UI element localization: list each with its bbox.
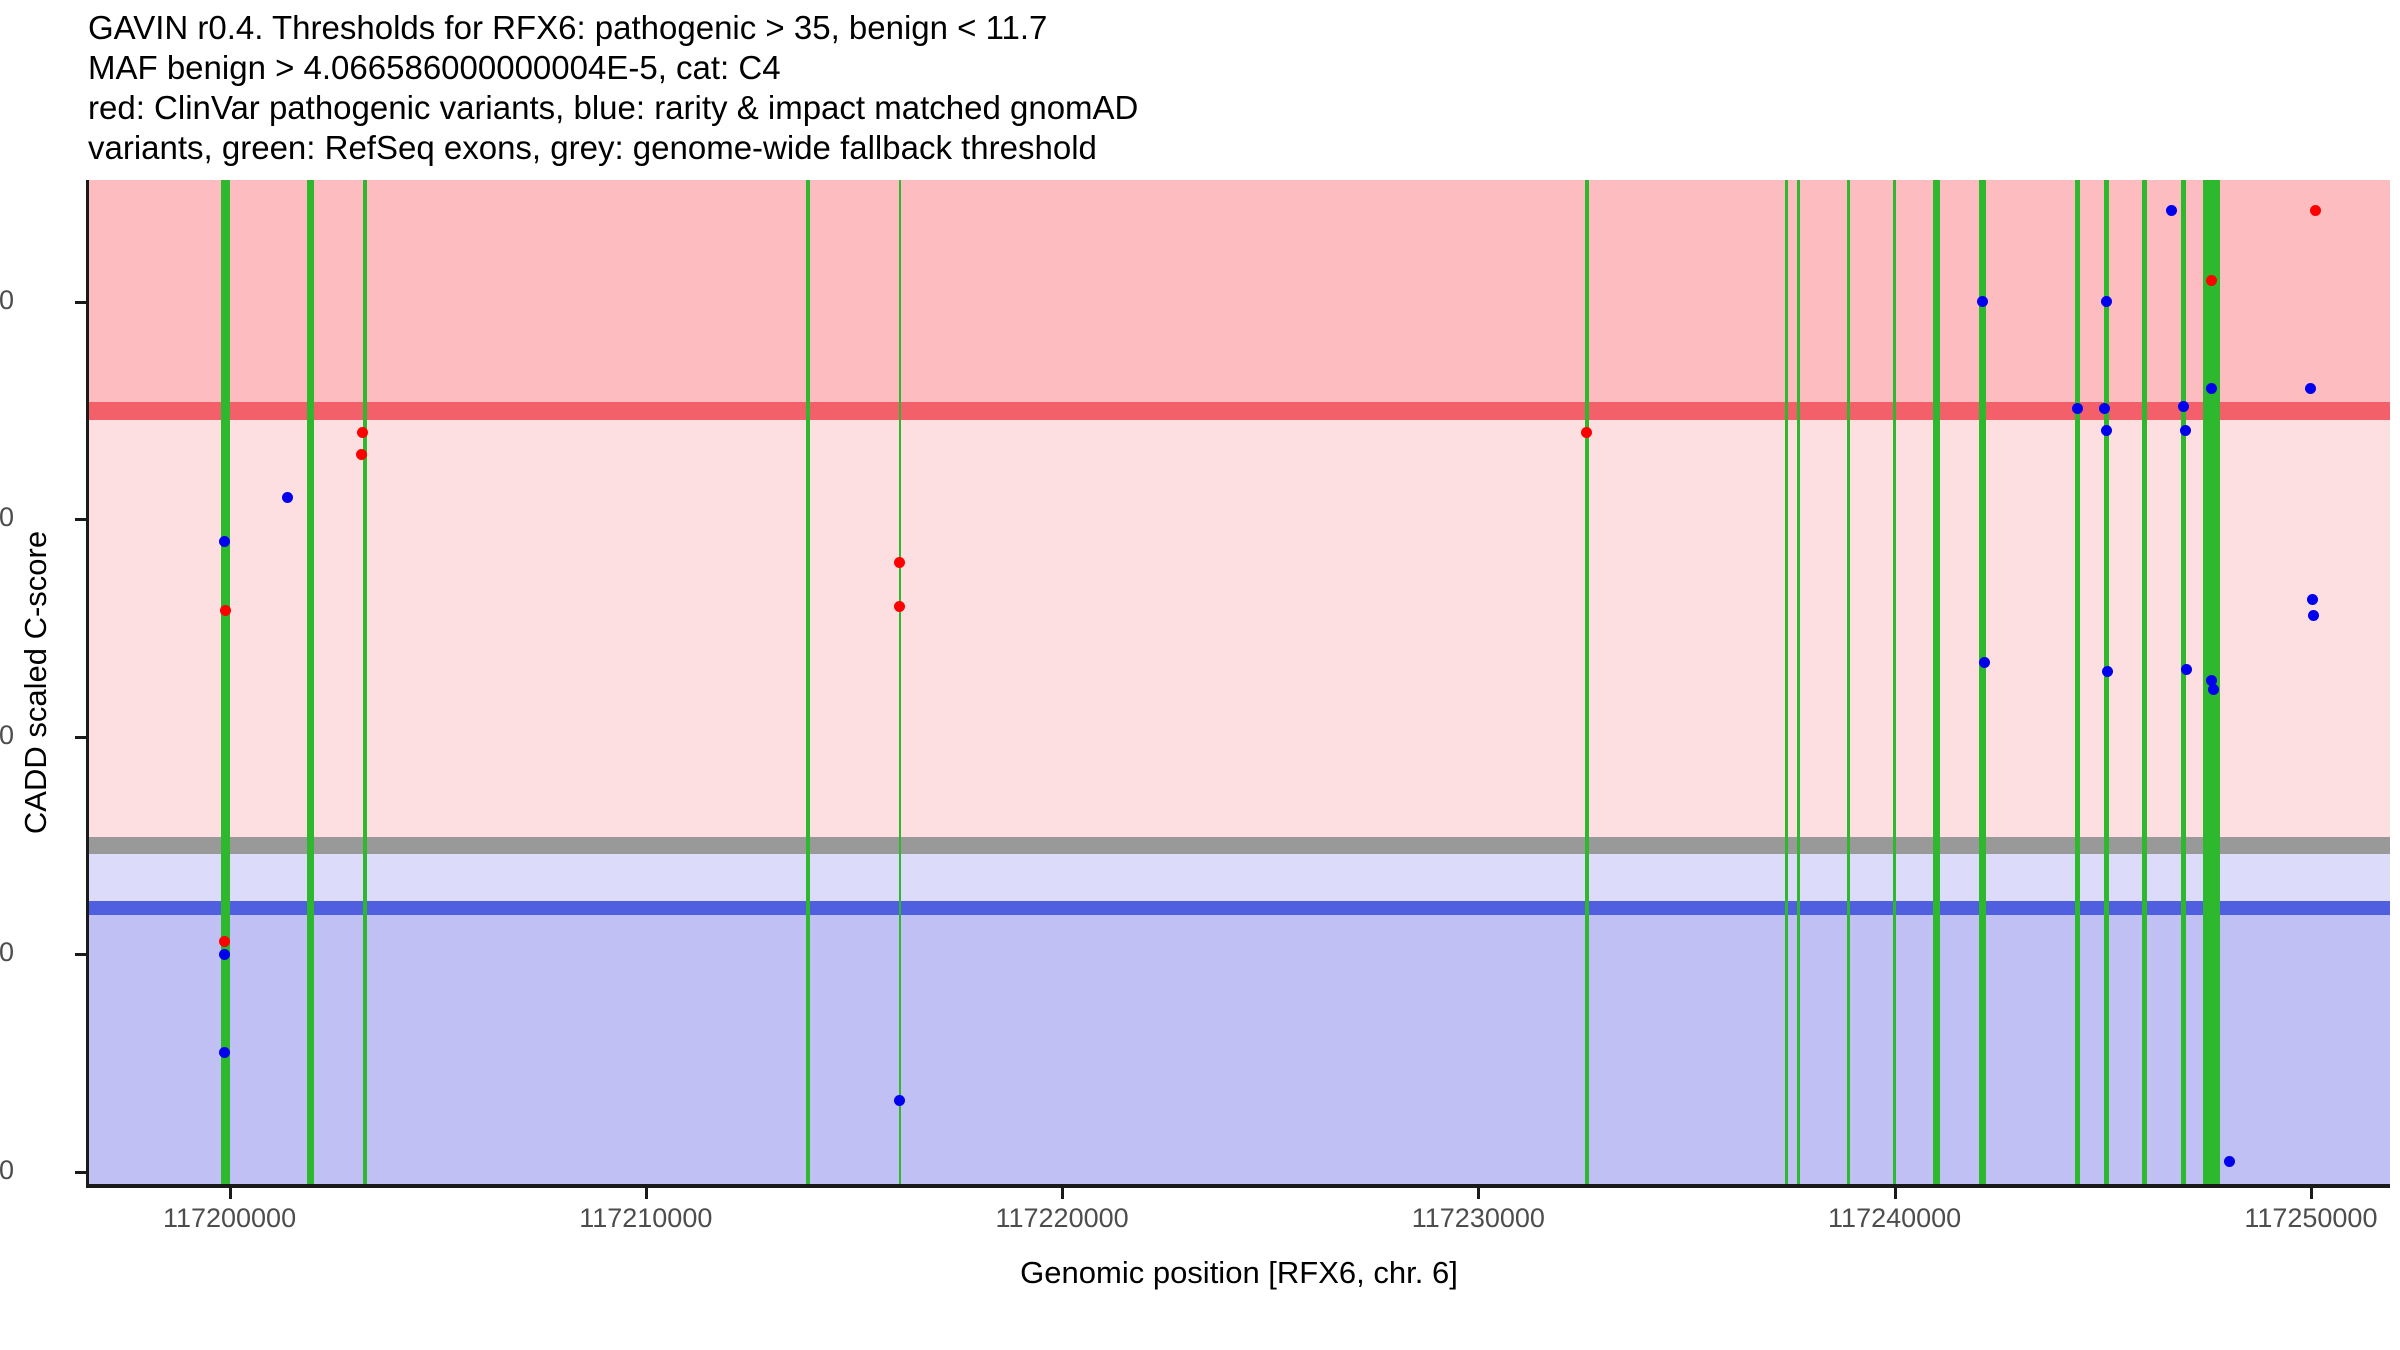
plot-title: GAVIN r0.4. Thresholds for RFX6: pathoge… bbox=[88, 8, 2388, 168]
fallback-threshold-line bbox=[88, 837, 2390, 854]
y-axis-tick-mark bbox=[75, 301, 86, 304]
refseq-exon-line bbox=[363, 180, 367, 1185]
title-line-2: MAF benign > 4.066586000000004E-5, cat: … bbox=[88, 48, 2388, 88]
benign-variant-point bbox=[219, 536, 230, 547]
pathogenic-lower-band bbox=[88, 420, 2390, 837]
refseq-exon-line bbox=[2181, 180, 2186, 1185]
x-axis-tick-label: 117200000 bbox=[163, 1203, 296, 1234]
refseq-exon-line bbox=[2075, 180, 2080, 1185]
y-axis-tick-mark bbox=[75, 518, 86, 521]
y-axis-tick-mark bbox=[75, 953, 86, 956]
benign-variant-point bbox=[1979, 657, 1990, 668]
refseq-exon-line bbox=[1785, 180, 1788, 1185]
refseq-exon-line bbox=[1797, 180, 1800, 1185]
x-axis-tick-label: 117230000 bbox=[1412, 1203, 1545, 1234]
pathogenic-variant-point bbox=[357, 427, 368, 438]
y-axis-label: CADD scaled C-score bbox=[16, 180, 56, 1185]
x-axis-tick-mark bbox=[1477, 1188, 1480, 1199]
benign-variant-point bbox=[2208, 684, 2219, 695]
pathogenic-variant-point bbox=[2206, 275, 2217, 286]
refseq-exon-line bbox=[2142, 180, 2147, 1185]
pathogenic-variant-point bbox=[1581, 427, 1592, 438]
benign-variant-point bbox=[2181, 664, 2192, 675]
x-axis-tick-label: 117250000 bbox=[2244, 1203, 2377, 1234]
benign-upper-band bbox=[88, 854, 2390, 901]
benign-variant-point bbox=[2224, 1156, 2235, 1167]
benign-threshold-line bbox=[88, 901, 2390, 915]
benign-variant-point bbox=[2180, 425, 2191, 436]
refseq-exon-line bbox=[899, 180, 901, 1185]
title-line-1: GAVIN r0.4. Thresholds for RFX6: pathoge… bbox=[88, 8, 2388, 48]
x-axis-tick-mark bbox=[645, 1188, 648, 1199]
x-axis-tick-mark bbox=[2310, 1188, 2313, 1199]
refseq-exon-line bbox=[806, 180, 810, 1185]
benign-variant-point bbox=[1977, 296, 1988, 307]
benign-variant-point bbox=[2101, 425, 2112, 436]
pathogenic-upper-band bbox=[88, 180, 2390, 402]
benign-variant-point bbox=[2166, 205, 2177, 216]
x-axis-tick-mark bbox=[229, 1188, 232, 1199]
benign-variant-point bbox=[2206, 383, 2217, 394]
x-axis-tick-label: 117220000 bbox=[996, 1203, 1129, 1234]
y-axis-tick-label: 0 bbox=[0, 1155, 14, 1186]
x-axis-tick-label: 117210000 bbox=[579, 1203, 712, 1234]
refseq-exon-line bbox=[1933, 180, 1940, 1185]
pathogenic-variant-point bbox=[894, 601, 905, 612]
benign-lower-band bbox=[88, 915, 2390, 1185]
pathogenic-variant-point bbox=[220, 605, 231, 616]
y-axis-tick-label: 10 bbox=[0, 937, 14, 968]
refseq-exon-line bbox=[1847, 180, 1850, 1185]
title-line-3: red: ClinVar pathogenic variants, blue: … bbox=[88, 88, 2388, 128]
y-axis-tick-mark bbox=[75, 1171, 86, 1174]
y-axis-tick-label: 20 bbox=[0, 720, 14, 751]
refseq-exon-line bbox=[307, 180, 314, 1185]
refseq-exon-line bbox=[1893, 180, 1896, 1185]
refseq-exon-line bbox=[1585, 180, 1589, 1185]
gavin-cadd-scatter-plot: GAVIN r0.4. Thresholds for RFX6: pathoge… bbox=[0, 0, 2400, 1350]
refseq-exon-line bbox=[2104, 180, 2109, 1185]
benign-variant-point bbox=[219, 949, 230, 960]
refseq-exon-line bbox=[1979, 180, 1986, 1185]
benign-variant-point bbox=[2308, 610, 2319, 621]
pathogenic-variant-point bbox=[356, 449, 367, 460]
refseq-exon-line bbox=[221, 180, 230, 1185]
pathogenic-variant-point bbox=[219, 936, 230, 947]
x-axis-tick-label: 117240000 bbox=[1828, 1203, 1961, 1234]
y-axis-tick-label: 30 bbox=[0, 502, 14, 533]
x-axis-tick-mark bbox=[1894, 1188, 1897, 1199]
y-axis-tick-mark bbox=[75, 736, 86, 739]
y-axis-tick-label: 40 bbox=[0, 285, 14, 316]
y-axis-line bbox=[86, 180, 89, 1187]
title-line-4: variants, green: RefSeq exons, grey: gen… bbox=[88, 128, 2388, 168]
pathogenic-variant-point bbox=[2310, 205, 2321, 216]
plot-panel bbox=[88, 180, 2390, 1185]
x-axis-label: Genomic position [RFX6, chr. 6] bbox=[88, 1255, 2390, 1291]
x-axis-tick-mark bbox=[1061, 1188, 1064, 1199]
x-axis-line bbox=[86, 1184, 2390, 1188]
pathogenic-threshold-line bbox=[88, 402, 2390, 420]
benign-variant-point bbox=[894, 1095, 905, 1106]
